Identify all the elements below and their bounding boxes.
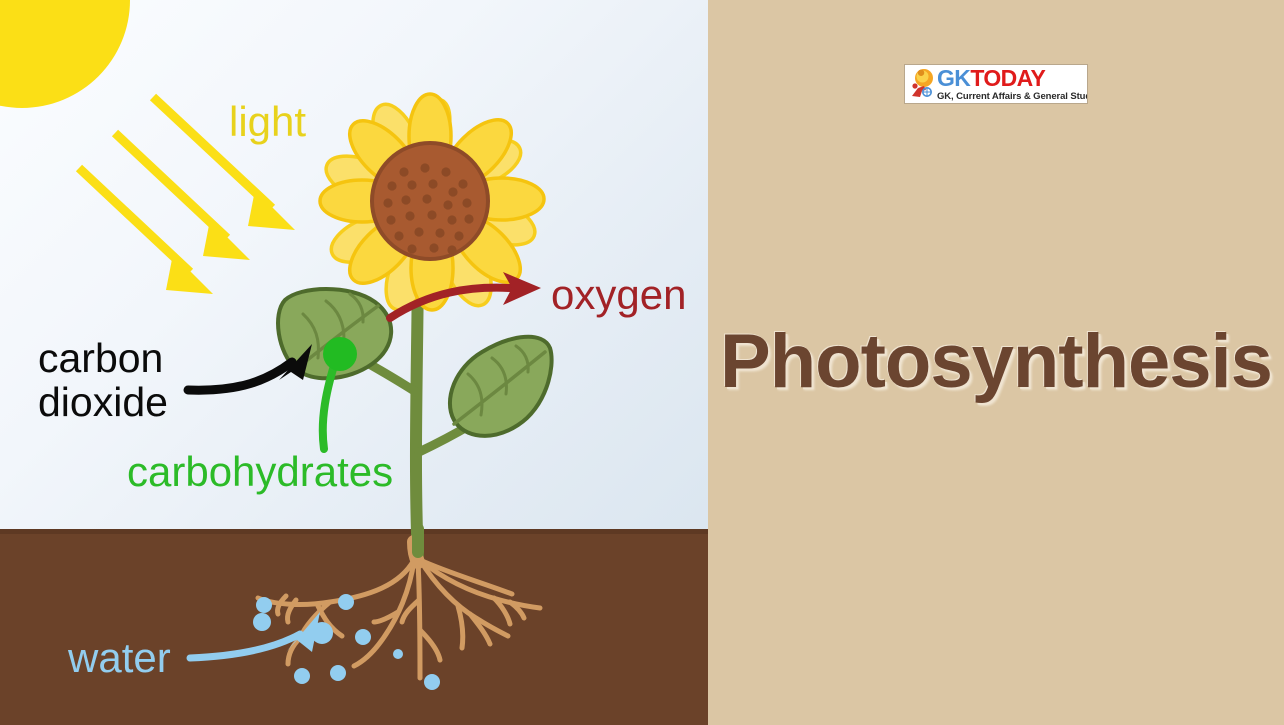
label-carbon-dioxide: carbon dioxide (38, 336, 168, 424)
gktoday-logo[interactable]: GKTODAY GK, Current Affairs & General St… (904, 64, 1088, 104)
gktoday-logo-icon (908, 68, 938, 100)
sun-icon (0, 0, 130, 108)
light-ray-arrow-3 (79, 168, 213, 294)
label-light: light (229, 98, 306, 146)
label-carbon-dioxide-line2: dioxide (38, 380, 168, 424)
plant-roots (258, 560, 540, 678)
label-oxygen: oxygen (551, 271, 686, 319)
logo-tagline: GK, Current Affairs & General Studies (937, 92, 1088, 102)
carbohydrate-green-dot (323, 337, 357, 371)
photosynthesis-diagram-panel: light oxygen carbon dioxide carbohydrate… (0, 0, 708, 725)
light-ray-arrow-2 (115, 133, 250, 260)
label-carbon-dioxide-line1: carbon (38, 336, 168, 380)
label-water: water (68, 634, 171, 682)
page-title: Photosynthesis (708, 318, 1284, 405)
logo-word-gk: GK (937, 65, 970, 91)
gktoday-wordmark: GKTODAY (937, 67, 1088, 90)
carbohydrate-indicator (323, 337, 357, 449)
plant-stem (416, 268, 418, 560)
label-carbohydrates: carbohydrates (127, 448, 393, 496)
screenshot-root: light oxygen carbon dioxide carbohydrate… (0, 0, 1284, 725)
leaf-right (450, 337, 552, 436)
logo-word-today: TODAY (970, 65, 1045, 91)
gktoday-logo-text: GKTODAY GK, Current Affairs & General St… (937, 67, 1088, 102)
title-panel: GKTODAY GK, Current Affairs & General St… (708, 0, 1284, 725)
